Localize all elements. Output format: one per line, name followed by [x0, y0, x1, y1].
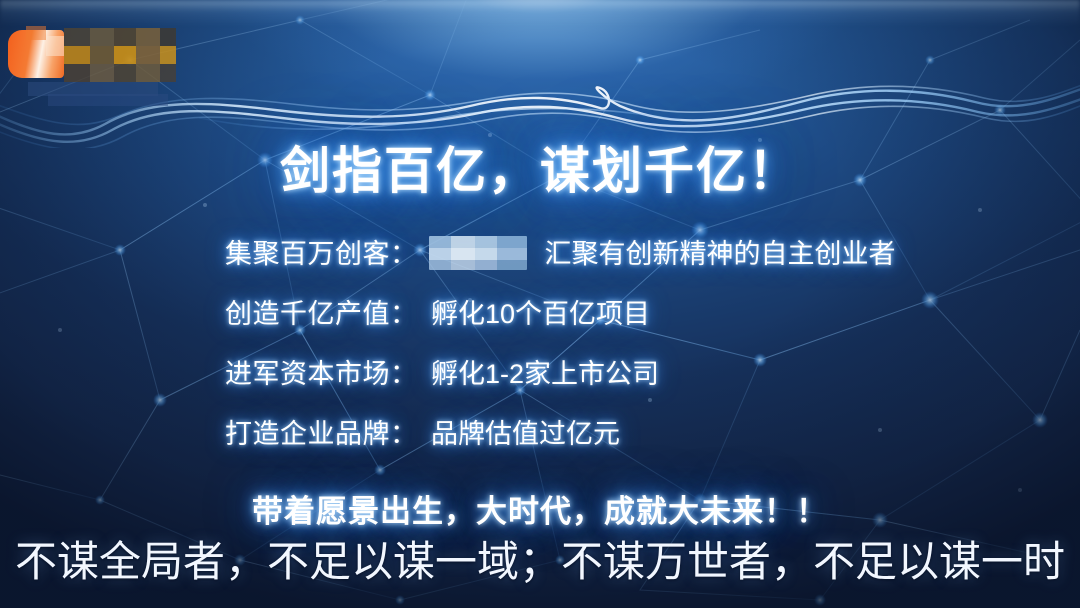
slide-title: 剑指百亿，谋划千亿！ — [0, 131, 1080, 203]
bullet-value-3: 孵化1-2家上市公司 — [431, 359, 659, 389]
bullet-row-1: 集聚百万创客： 汇聚有创新精神的自主创业者 — [225, 234, 1025, 294]
slide-slogan: 带着愿景出生，大时代，成就大未来！！ — [0, 486, 1080, 531]
bullet-row-2: 创造千亿产值： 孵化10个百亿项目 — [225, 294, 1025, 354]
bullet-label-1: 集聚百万创客： — [225, 239, 418, 269]
logo-mosaic-overlay — [8, 26, 176, 82]
bullet-value-1: 汇聚有创新精神的自主创业者 — [545, 239, 896, 269]
bullet-label-2: 创造千亿产值： — [225, 299, 418, 329]
bullet-value-2: 孵化10个百亿项目 — [431, 299, 650, 329]
redacted-text-block — [429, 236, 527, 270]
slide-quote: 不谋全局者，不足以谋一域；不谋万世者，不足以谋一时 — [0, 528, 1080, 589]
bullet-label-3: 进军资本市场： — [225, 359, 418, 389]
company-logo-redacted — [8, 26, 176, 82]
bullet-row-3: 进军资本市场： 孵化1-2家上市公司 — [225, 354, 1025, 414]
top-light-band — [0, 0, 1080, 26]
bullet-value-4: 品牌估值过亿元 — [431, 419, 620, 449]
bullet-label-4: 打造企业品牌： — [225, 419, 418, 449]
bullet-list: 集聚百万创客： 汇聚有创新精神的自主创业者 创造千亿产值： 孵化10个百亿项目 — [225, 234, 1025, 474]
presentation-slide: 剑指百亿，谋划千亿！ 集聚百万创客： 汇聚有创新精神的自主创业者 创造千 — [0, 0, 1080, 608]
bullet-row-4: 打造企业品牌： 品牌估值过亿元 — [225, 414, 1025, 474]
